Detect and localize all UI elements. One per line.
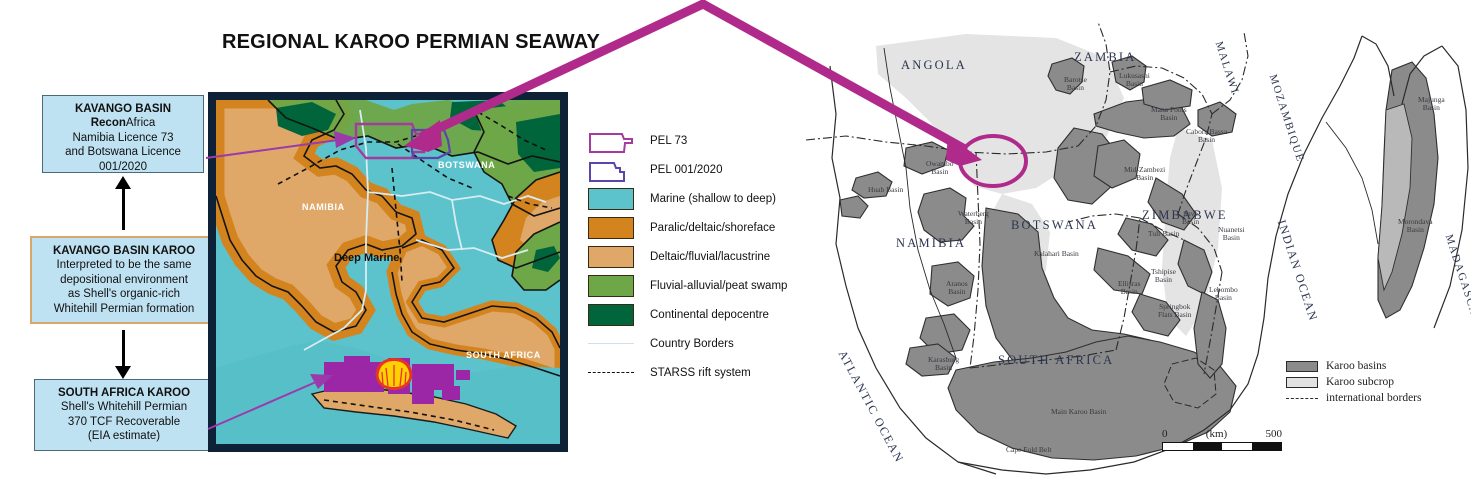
- paleo-map[interactable]: BOTSWANA NAMIBIA SOUTH AFRICA Deep Marin…: [216, 100, 560, 444]
- karoo-basins-map[interactable]: ANGOLA ZAMBIA ZIMBABWE BOTSWANA NAMIBIA …: [806, 18, 1471, 477]
- karoo-line2: depositional environment: [38, 273, 210, 287]
- country-border-line-icon: [588, 333, 636, 355]
- legend-label-deltaic: Deltaic/fluvial/lacustrine: [650, 251, 770, 263]
- kavango-line3: and Botswana Licence: [49, 145, 197, 159]
- depocentre-swatch-icon: [588, 304, 636, 326]
- basin-legend-item-basins[interactable]: Karoo basins: [1286, 358, 1466, 374]
- basin-legend-item-subcrop[interactable]: Karoo subcrop: [1286, 374, 1466, 390]
- basin-map-legend: Karoo basins Karoo subcrop international…: [1286, 358, 1466, 406]
- paralic-swatch-icon: [588, 217, 636, 239]
- legend-item-depocentre[interactable]: Continental depocentre: [588, 300, 803, 329]
- international-borders-line-icon: [1286, 393, 1318, 404]
- basin-legend-label-subcrop: Karoo subcrop: [1326, 376, 1394, 388]
- legend-item-fluvial[interactable]: Fluvial-alluvial/peat swamp: [588, 271, 803, 300]
- kavango-line2: Namibia Licence 73: [49, 131, 197, 145]
- basin-legend-item-borders[interactable]: international borders: [1286, 390, 1466, 406]
- arrow-head-up-icon: [115, 176, 131, 189]
- legend-item-country-borders[interactable]: Country Borders: [588, 329, 803, 358]
- karoo-line4: Whitehill Permian formation: [38, 302, 210, 316]
- legend-item-deltaic[interactable]: Deltaic/fluvial/lacustrine: [588, 242, 803, 271]
- paleo-map-svg: [216, 100, 560, 444]
- deltaic-swatch-icon: [588, 246, 636, 268]
- pel001-outline-icon: [588, 159, 636, 181]
- map-legend: PEL 73 PEL 001/2020 Marine (shallow to d…: [588, 126, 803, 387]
- starss-dashed-line-icon: [588, 362, 636, 384]
- legend-label-starss: STARSS rift system: [650, 367, 751, 379]
- legend-label-paralic: Paralic/deltaic/shoreface: [650, 222, 775, 234]
- legend-label-fluvial: Fluvial-alluvial/peat swamp: [650, 280, 787, 292]
- fluvial-swatch-icon: [588, 275, 636, 297]
- south-africa-karoo-info-box: SOUTH AFRICA KAROO Shell's Whitehill Per…: [34, 379, 214, 451]
- africa-rest: Africa: [126, 117, 155, 129]
- recon-bold: Recon: [91, 117, 126, 129]
- kavango-operator-line: ReconAfrica: [49, 116, 197, 130]
- kavango-line4: 001/2020: [49, 160, 197, 174]
- scale-max: 500: [1265, 428, 1282, 440]
- legend-label-country-borders: Country Borders: [650, 338, 734, 350]
- karoo-line3: as Shell's organic-rich: [38, 287, 210, 301]
- arrow-head-down-icon: [115, 366, 131, 379]
- kavango-basin-info-box: KAVANGO BASIN ReconAfrica Namibia Licenc…: [42, 95, 204, 173]
- legend-item-marine[interactable]: Marine (shallow to deep): [588, 184, 803, 213]
- scale-unit: (km): [1206, 428, 1227, 440]
- karoo-heading: KAVANGO BASIN KAROO: [38, 244, 210, 258]
- karoo-subcrop-swatch-icon: [1286, 377, 1318, 388]
- legend-label-pel73: PEL 73: [650, 135, 687, 147]
- legend-item-starss[interactable]: STARSS rift system: [588, 358, 803, 387]
- marine-swatch-icon: [588, 188, 636, 210]
- page-title: REGIONAL KAROO PERMIAN SEAWAY: [222, 31, 600, 54]
- sa-line3: (EIA estimate): [41, 429, 207, 443]
- karoo-basins-swatch-icon: [1286, 361, 1318, 372]
- connector-line-upper: [122, 186, 125, 230]
- scale-zero: 0: [1162, 428, 1168, 440]
- map-scale-bar: 0 (km) 500: [1162, 428, 1282, 451]
- basin-map-svg: [806, 18, 1471, 477]
- sa-line2: 370 TCF Recoverable: [41, 415, 207, 429]
- kavango-basin-karoo-info-box: KAVANGO BASIN KAROO Interpreted to be th…: [30, 236, 218, 324]
- legend-label-marine: Marine (shallow to deep): [650, 193, 776, 205]
- sa-heading: SOUTH AFRICA KAROO: [41, 386, 207, 400]
- basin-legend-label-basins: Karoo basins: [1326, 360, 1386, 372]
- scale-bar-graphic: [1162, 442, 1282, 451]
- karoo-line1: Interpreted to be the same: [38, 258, 210, 272]
- legend-item-pel73[interactable]: PEL 73: [588, 126, 803, 155]
- sa-line1: Shell's Whitehill Permian: [41, 400, 207, 414]
- connector-line-lower: [122, 330, 125, 370]
- legend-item-paralic[interactable]: Paralic/deltaic/shoreface: [588, 213, 803, 242]
- paleo-map-frame: BOTSWANA NAMIBIA SOUTH AFRICA Deep Marin…: [208, 92, 568, 452]
- legend-label-depocentre: Continental depocentre: [650, 309, 769, 321]
- basin-legend-label-borders: international borders: [1326, 392, 1421, 404]
- legend-label-pel001: PEL 001/2020: [650, 164, 722, 176]
- pel73-outline-icon: [588, 130, 636, 152]
- legend-item-pel001[interactable]: PEL 001/2020: [588, 155, 803, 184]
- kavango-heading: KAVANGO BASIN: [49, 102, 197, 116]
